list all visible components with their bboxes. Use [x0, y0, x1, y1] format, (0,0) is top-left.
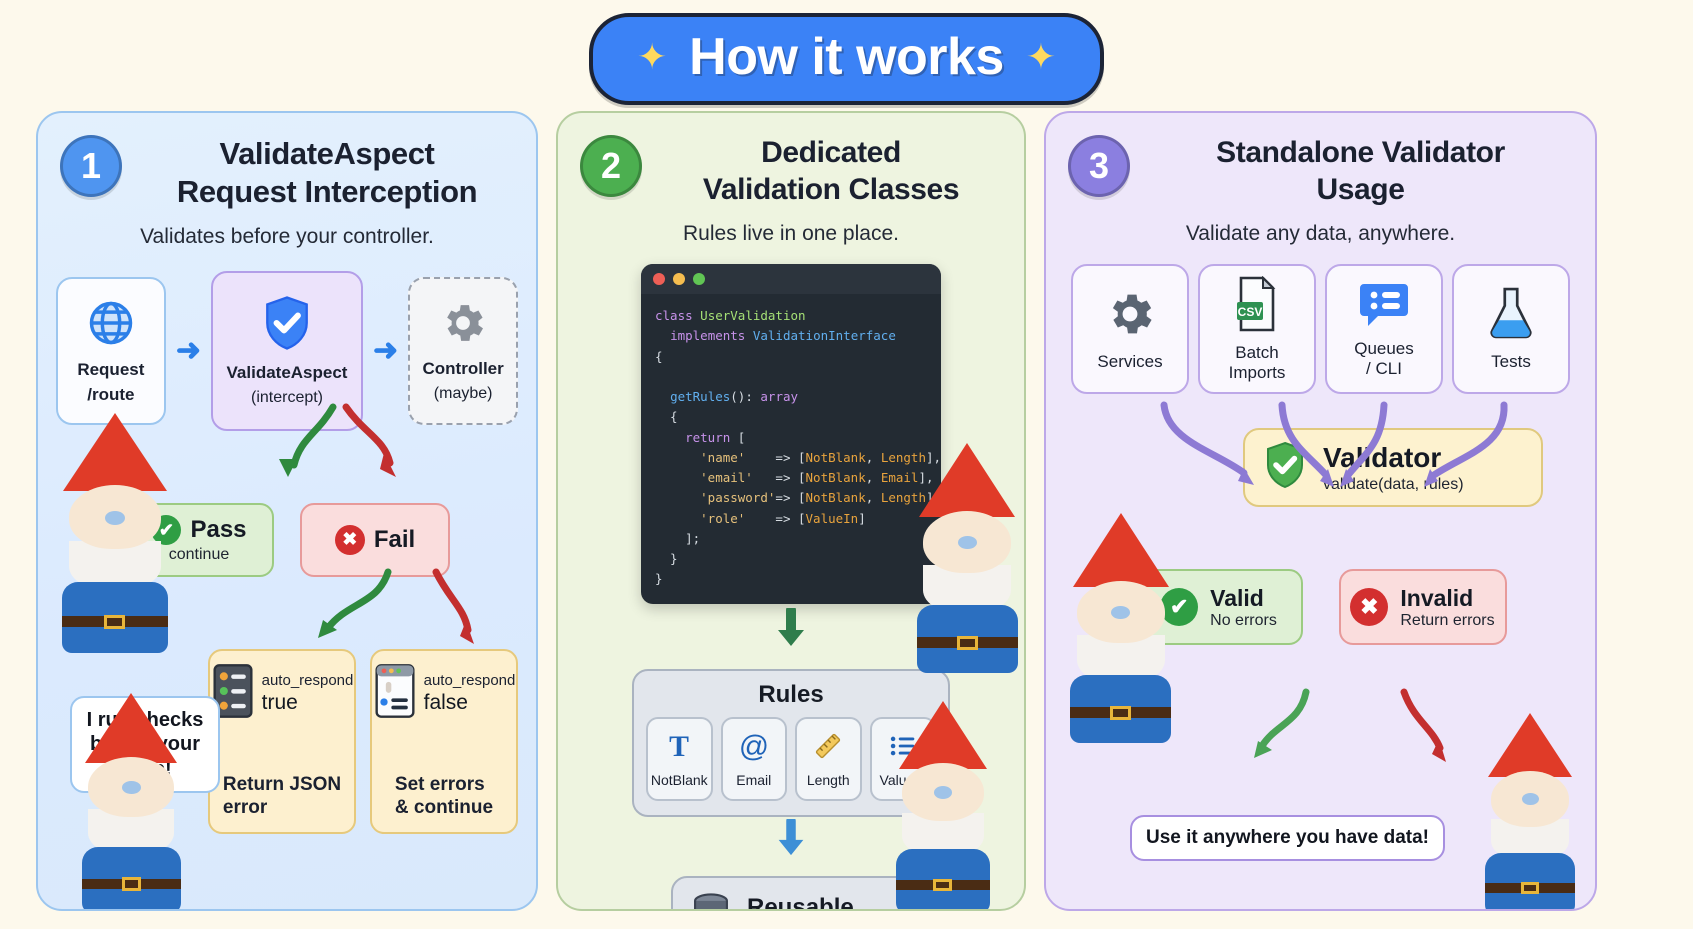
flow-node-validate-label2: (intercept): [251, 389, 323, 407]
panel1-header: 1 ValidateAspect Request Interception: [38, 113, 536, 211]
sparkle-right-icon: ✦: [1026, 39, 1056, 75]
flask-icon: [1488, 287, 1534, 346]
rule-card-email: @ Email: [721, 717, 788, 801]
response-false-footer-line2: & continue: [395, 797, 493, 820]
validator-title: Validator: [1323, 442, 1464, 474]
panel3-sources: Services CSV BatchImports: [1046, 264, 1595, 394]
panel3-step-badge: 3: [1068, 135, 1130, 197]
result-valid-sub: No errors: [1210, 612, 1277, 630]
result-valid: ✔ Valid No errors: [1135, 569, 1303, 645]
check-circle-icon: ✔: [1160, 588, 1198, 626]
globe-icon: [85, 297, 137, 354]
speech-bubble-panel3: Use it anywhere you have data!: [1130, 815, 1445, 861]
flow-node-controller-label1: Controller: [423, 359, 504, 379]
flow-node-validate-aspect: ValidateAspect (intercept): [211, 271, 363, 431]
svg-text:@: @: [739, 730, 769, 763]
page-title: How it works: [689, 27, 1004, 87]
rule-name-email: Email: [736, 772, 771, 788]
panel-validate-aspect: 1 ValidateAspect Request Interception Va…: [36, 111, 538, 911]
gear-icon: [438, 298, 488, 353]
rule-name-length: Length: [807, 772, 850, 788]
flow-node-request-label1: Request: [77, 360, 144, 380]
validator-result-arrows: [1196, 688, 1516, 778]
response-true-footer-line2: error: [223, 797, 341, 820]
result-invalid-sub: Return errors: [1400, 612, 1494, 630]
panel3-title: Standalone Validator Usage: [1146, 135, 1575, 208]
x-circle-icon: ✖: [335, 525, 365, 555]
reusable-title: Reusable: [747, 894, 874, 911]
x-circle-icon: ✖: [1350, 588, 1388, 626]
gear-icon: [1103, 287, 1157, 346]
source-label-tests: Tests: [1491, 352, 1531, 372]
panel1-flow-row: Request /route ➜ ValidateAspect (interce…: [38, 271, 536, 431]
panel2-step-badge: 2: [580, 135, 642, 197]
panel3-results: ✔ Valid No errors ✖ Invalid Return error…: [1046, 569, 1595, 645]
panel3-subtitle: Validate any data, anywhere.: [1046, 222, 1595, 246]
code-window-titlebar: [641, 264, 941, 294]
source-card-batch-imports: CSV BatchImports: [1198, 264, 1316, 394]
arrow-down-to-reusable: [558, 819, 1024, 862]
code-window: class UserValidation implements Validati…: [641, 264, 941, 604]
panel1-step-badge: 1: [60, 135, 122, 197]
panel3-header: 3 Standalone Validator Usage: [1046, 113, 1595, 208]
panel2-header: 2 Dedicated Validation Classes: [558, 113, 1024, 208]
outcome-fail-label: Fail: [374, 526, 415, 554]
panel2-title: Dedicated Validation Classes: [658, 135, 1004, 208]
flow-node-controller-label2: (maybe): [434, 385, 493, 403]
panel2-title-line2: Validation Classes: [658, 172, 1004, 209]
arrow-right-icon-2: ➜: [373, 333, 398, 368]
queue-list-icon: [1358, 280, 1410, 333]
check-circle-icon: ✔: [151, 515, 181, 545]
response-true-footer-line1: Return JSON: [223, 774, 341, 797]
speech-bubble-panel1: I run checks before your code!: [70, 696, 220, 793]
title-pill: ✦ How it works ✦: [589, 13, 1104, 105]
source-card-tests: Tests: [1452, 264, 1570, 394]
result-invalid-label: Invalid: [1400, 585, 1494, 612]
svg-text:CSV: CSV: [1238, 305, 1263, 319]
response-false-key: auto_respond: [424, 672, 516, 689]
flow-node-request-label2: /route: [87, 385, 134, 405]
close-dot-icon[interactable]: [653, 273, 665, 285]
source-label-services: Services: [1097, 352, 1162, 372]
rule-card-valuein: ValueIn: [870, 717, 937, 801]
rules-group: Rules T NotBlank @ Email Length: [632, 669, 950, 817]
source-label-queues-cli: Queues/ CLI: [1354, 339, 1414, 378]
panel1-title: ValidateAspect Request Interception: [138, 135, 516, 211]
maximize-dot-icon[interactable]: [693, 273, 705, 285]
validator-box: Validator validate(data, rules): [1243, 428, 1543, 507]
panel-standalone-validator: 3 Standalone Validator Usage Validate an…: [1044, 111, 1597, 911]
rules-group-title: Rules: [646, 681, 936, 709]
response-false-footer: Set errors & continue: [395, 774, 493, 820]
response-false-footer-line1: Set errors: [395, 774, 493, 797]
title-bar: ✦ How it works ✦: [0, 0, 1693, 105]
arrow-down-to-rules: [558, 608, 1024, 653]
panel1-subtitle: Validates before your controller.: [38, 225, 536, 249]
result-invalid: ✖ Invalid Return errors: [1339, 569, 1507, 645]
panel1-title-line1: ValidateAspect: [138, 135, 516, 173]
flow-node-request: Request /route: [56, 277, 166, 425]
reusable-box: Reusable Across controllers: [671, 876, 911, 911]
panels-row: 1 ValidateAspect Request Interception Va…: [0, 105, 1693, 911]
arrow-right-icon: ➜: [176, 333, 201, 368]
outcome-pass: ✔ Pass continue: [124, 503, 274, 577]
shield-check-icon: [1261, 440, 1309, 495]
rule-card-length: Length: [795, 717, 862, 801]
response-true-value: true: [262, 691, 354, 715]
outcome-pass-label: Pass: [190, 516, 246, 544]
outcome-fail: ✖ Fail: [300, 503, 450, 577]
source-label-batch-imports: BatchImports: [1229, 343, 1286, 382]
response-true-key: auto_respond: [262, 672, 354, 689]
csv-file-icon: CSV: [1232, 276, 1282, 337]
panel1-title-line2: Request Interception: [138, 173, 516, 211]
gnome-mascot-thumbsup-right: [1485, 713, 1575, 911]
panel-validation-classes: 2 Dedicated Validation Classes Rules liv…: [556, 111, 1026, 911]
result-valid-label: Valid: [1210, 585, 1277, 612]
code-block: class UserValidation implements Validati…: [641, 294, 941, 604]
panel1-outcomes: ✔ Pass continue ✖ Fail: [38, 503, 536, 577]
minimize-dot-icon[interactable]: [673, 273, 685, 285]
flow-node-controller: Controller (maybe): [408, 277, 518, 425]
at-sign-icon: @: [737, 729, 771, 768]
panel2-title-line1: Dedicated: [658, 135, 1004, 172]
text-t-icon: T: [662, 729, 696, 768]
ruler-icon: [811, 729, 845, 768]
response-true-footer: Return JSON error: [223, 774, 341, 820]
rule-name-valuein: ValueIn: [880, 772, 926, 788]
response-false-value: false: [424, 691, 516, 715]
panel3-title-line2: Usage: [1146, 172, 1575, 209]
sparkle-left-icon: ✦: [637, 39, 667, 75]
response-auto-respond-true: auto_respond true Return JSON error: [208, 649, 356, 834]
validator-signature: validate(data, rules): [1323, 476, 1464, 494]
source-card-queues-cli: Queues/ CLI: [1325, 264, 1443, 394]
list-icon: [886, 729, 920, 768]
panel2-subtitle: Rules live in one place.: [558, 222, 1024, 246]
source-card-services: Services: [1071, 264, 1189, 394]
database-icon: [689, 892, 733, 911]
shield-check-icon: [259, 294, 315, 357]
browser-window-icon: [373, 663, 417, 724]
rule-card-notblank: T NotBlank: [646, 717, 713, 801]
response-auto-respond-false: auto_respond false Set errors & continue: [370, 649, 518, 834]
panel3-title-line1: Standalone Validator: [1146, 135, 1575, 172]
outcome-pass-sub: continue: [169, 546, 230, 564]
svg-text:T: T: [669, 730, 689, 763]
rule-name-notblank: NotBlank: [651, 772, 708, 788]
flow-node-validate-label1: ValidateAspect: [227, 363, 348, 383]
